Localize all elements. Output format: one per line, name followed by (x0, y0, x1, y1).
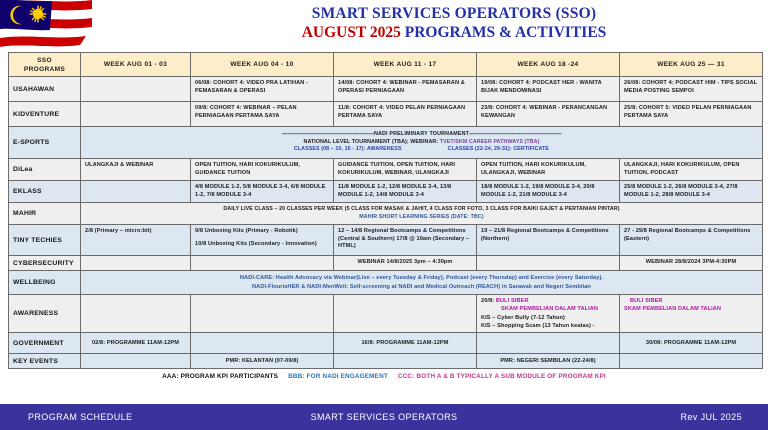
page-title: SMART SERVICES OPERATORS (SSO) (150, 4, 758, 23)
cell-tiny-techies-w5[interactable]: 27 - 29/8 Regional Bootcamps & Competiti… (620, 225, 763, 256)
malaysia-flag-icon (0, 0, 118, 52)
page-subtitle-rest: PROGRAMS & ACTIVITIES (405, 24, 607, 41)
esports-tournament-title: NADI PRELIMINARY TOURNAMENT (374, 131, 469, 137)
table-row-cybersecurity[interactable]: CYBERSECURITY WEBINAR 14/8/2025 3pm – 4:… (9, 256, 763, 271)
awareness-w5-line1: BULI SIBER (624, 298, 758, 306)
table-row-eklass[interactable]: EKLASS 4/8 MODULE 1-2, 5/8 MODULE 3-4, 6… (9, 181, 763, 203)
table-row-wellbeing[interactable]: WELLBEING NADI-CARE: Health Advocacy via… (9, 271, 763, 295)
cell-awareness-w3[interactable] (334, 295, 477, 333)
awareness-w5-line2: SKAM PEMBELIAN DALAM TALIAN (624, 306, 758, 314)
col-header-week1: WEEK AUG 01 - 03 (81, 53, 191, 77)
col-header-programs-l2: PROGRAMS (13, 65, 76, 74)
cell-tiny-techies-w2[interactable]: 9/8 Unboxing Kits (Primary - Robotik) 10… (191, 225, 334, 256)
cell-kidventure-w1[interactable] (81, 102, 191, 127)
legend-bbb: BBB: FOR NADI ENGAGEMENT (288, 373, 388, 380)
table-row-usahawan[interactable]: USAHAWAN 06/08: COHORT 4: VIDEO PRA LATI… (9, 77, 763, 102)
cell-dilea-w5[interactable]: ULANGKAJI, HARI KOKURIKULUM, OPEN TUITIO… (620, 159, 763, 181)
cell-eklass-w4[interactable]: 18/8 MODULE 1-2, 19/8 MODULE 3-4, 20/8 M… (477, 181, 620, 203)
table-row-mahir[interactable]: MAHIR DAILY LIVE CLASS – 20 CLASSES PER … (9, 203, 763, 225)
cell-key-events-w5[interactable] (620, 354, 763, 369)
legend: AAA: PROGRAM KPI PARTICIPANTSBBB: FOR NA… (0, 369, 768, 383)
cell-usahawan-w4[interactable]: 19/08: COHORT 4: PODCAST HER - WANITA BI… (477, 77, 620, 102)
wellbeing-line1: NADI-CARE: Health Advocacy via Webinar(L… (85, 274, 758, 283)
cell-cybersecurity-w3[interactable]: WEBINAR 14/8/2025 3pm – 4:30pm (334, 256, 477, 271)
awareness-w4-line3: KIS – Cyber Bully (7-12 Tahun) (481, 315, 615, 323)
cell-dilea-w4[interactable]: OPEN TUITION, HARI KOKURIKULUM, ULANGKAJ… (477, 159, 620, 181)
cell-mahir-merged[interactable]: DAILY LIVE CLASS – 20 CLASSES PER WEEK (… (81, 203, 763, 225)
row-label-esports: E-SPORTS (9, 127, 81, 159)
esports-tournament-banner: ----------------------------------------… (85, 131, 758, 139)
cell-tiny-techies-w3[interactable]: 12 – 14/8 Regional Bootcamps & Competiti… (334, 225, 477, 256)
cell-esports-merged[interactable]: ----------------------------------------… (81, 127, 763, 159)
row-label-usahawan: USAHAWAN (9, 77, 81, 102)
col-header-week3: WEEK AUG 11 - 17 (334, 53, 477, 77)
cell-eklass-w2[interactable]: 4/8 MODULE 1-2, 5/8 MODULE 3-4, 6/8 MODU… (191, 181, 334, 203)
legend-aaa: AAA: PROGRAM KPI PARTICIPANTS (162, 373, 278, 380)
tiny-techies-w2-l2: 10/8 Unboxing Kits (Secondary - Innovati… (195, 241, 329, 249)
cell-eklass-w5[interactable]: 25/8 MODULE 1-2, 26/8 MODULE 3-4, 27/8 M… (620, 181, 763, 203)
awareness-w4-line4: KIS – Shopping Scam (13 Tahun keatas) - (481, 323, 615, 331)
cell-key-events-w1[interactable] (81, 354, 191, 369)
header-row: SSO PROGRAMS WEEK AUG 01 - 03 WEEK AUG 0… (9, 53, 763, 77)
table-row-government[interactable]: GOVERNMENT 02/8: PROGRAMME 11AM-12PM 16/… (9, 333, 763, 354)
cell-government-w5[interactable]: 30/08: PROGRAMME 11AM-12PM (620, 333, 763, 354)
cell-eklass-w1[interactable] (81, 181, 191, 203)
col-header-week5: WEEK AUG 25 — 31 (620, 53, 763, 77)
table-row-dilea[interactable]: DiLea ULANGKAJI & WEBINAR OPEN TUITION, … (9, 159, 763, 181)
table-row-esports[interactable]: E-SPORTS -------------------------------… (9, 127, 763, 159)
row-label-eklass: EKLASS (9, 181, 81, 203)
cell-government-w1[interactable]: 02/8: PROGRAMME 11AM-12PM (81, 333, 191, 354)
cell-cybersecurity-w4[interactable] (477, 256, 620, 271)
legend-ccc: CCC: BOTH A & B TYPICALLY A SUB MODULE O… (398, 373, 606, 380)
title-block: SMART SERVICES OPERATORS (SSO) AUGUST 20… (150, 4, 758, 43)
table-row-kidventure[interactable]: KIDVENTURE 09/8: COHORT 4: WEBINAR – PEL… (9, 102, 763, 127)
cell-dilea-w3[interactable]: GUIDANCE TUITION, OPEN TUITION, HARI KOK… (334, 159, 477, 181)
wellbeing-line2: NADI-FlourisHER & NADI-MenWell: Self-scr… (85, 283, 758, 292)
cell-dilea-w1[interactable]: ULANGKAJI & WEBINAR (81, 159, 191, 181)
esports-classes-awareness: CLASSES (08 – 10, 15 - 17): AWARENESS (294, 146, 402, 152)
cell-usahawan-w3[interactable]: 14/08: COHORT 4: WEBINAR - PEMASARAN & O… (334, 77, 477, 102)
page-subtitle-month: AUGUST 2025 (302, 24, 401, 41)
cell-tiny-techies-w1[interactable]: 2/8 (Primary – micro:bit) (81, 225, 191, 256)
esports-dash-right: ----------------------------------------… (469, 131, 561, 137)
table-body: USAHAWAN 06/08: COHORT 4: VIDEO PRA LATI… (9, 77, 763, 369)
mahir-daily-line: DAILY LIVE CLASS – 20 CLASSES PER WEEK (… (85, 206, 758, 214)
row-label-tiny-techies: TINY TECHIES (9, 225, 81, 256)
row-label-kidventure: KIDVENTURE (9, 102, 81, 127)
cell-cybersecurity-w5[interactable]: WEBINAR 28/8/2024 3PM-4:30PM (620, 256, 763, 271)
esports-classes-line: CLASSES (08 – 10, 15 - 17): AWARENESSCLA… (85, 146, 758, 154)
row-label-government: GOVERNMENT (9, 333, 81, 354)
table-header: SSO PROGRAMS WEEK AUG 01 - 03 WEEK AUG 0… (9, 53, 763, 77)
page-header: SMART SERVICES OPERATORS (SSO) AUGUST 20… (0, 0, 768, 52)
col-header-programs-l1: SSO (13, 56, 76, 65)
cell-usahawan-w1[interactable] (81, 77, 191, 102)
mahir-series-line: MAHIR SHORT LEARNING SERIES (DATE: TBC) (85, 214, 758, 222)
cell-awareness-w2[interactable] (191, 295, 334, 333)
cell-kidventure-w2[interactable]: 09/8: COHORT 4: WEBINAR – PELAN PERNIAGA… (191, 102, 334, 127)
schedule-table: SSO PROGRAMS WEEK AUG 01 - 03 WEEK AUG 0… (8, 52, 763, 369)
row-label-dilea: DiLea (9, 159, 81, 181)
col-header-week2: WEEK AUG 04 - 10 (191, 53, 334, 77)
cell-awareness-w4[interactable]: 20/8: BULI SIBER SKAM PEMBELIAN DALAM TA… (477, 295, 620, 333)
page-subtitle: AUGUST 2025 PROGRAMS & ACTIVITIES (150, 23, 758, 43)
cell-cybersecurity-w2[interactable] (191, 256, 334, 271)
row-label-wellbeing: WELLBEING (9, 271, 81, 295)
awareness-w4-line1: 20/8: BULI SIBER (481, 298, 615, 306)
table-row-key-events[interactable]: KEY EVENTS PMR: KELANTAN (07-09/8) PMR: … (9, 354, 763, 369)
col-header-week4: WEEK AUG 18 -24 (477, 53, 620, 77)
schedule-page: SMART SERVICES OPERATORS (SSO) AUGUST 20… (0, 0, 768, 430)
schedule-table-wrapper: SSO PROGRAMS WEEK AUG 01 - 03 WEEK AUG 0… (0, 52, 768, 369)
cell-kidventure-w4[interactable]: 23/8: COHORT 4: WEBINAR - PERANCANGAN KE… (477, 102, 620, 127)
cell-key-events-w2[interactable]: PMR: KELANTAN (07-09/8) (191, 354, 334, 369)
cell-awareness-w5[interactable]: BULI SIBER SKAM PEMBELIAN DALAM TALIAN (620, 295, 763, 333)
awareness-w4-date: 20/8: (481, 298, 494, 304)
cell-key-events-w4[interactable]: PMR: NEGERI SEMBILAN (22-24/8) (477, 354, 620, 369)
tiny-techies-w2-l1: 9/8 Unboxing Kits (Primary - Robotik) (195, 228, 329, 236)
esports-national-b: TVET/SKM CAREER PATHWAYS (TBA) (440, 139, 540, 145)
cell-cybersecurity-w1[interactable] (81, 256, 191, 271)
cell-awareness-w1[interactable] (81, 295, 191, 333)
table-row-tiny-techies[interactable]: TINY TECHIES 2/8 (Primary – micro:bit) 9… (9, 225, 763, 256)
esports-national-a: NATIONAL LEVEL TOURNAMENT (TBA); WEBINAR… (304, 139, 439, 145)
table-row-awareness[interactable]: AWARENESS 20/8: BULI SIBER SKAM PEMBELIA… (9, 295, 763, 333)
cell-government-w2[interactable] (191, 333, 334, 354)
footer-revision-label: Rev JUL 2025 (681, 412, 743, 422)
awareness-w4-topic: BULI SIBER (496, 298, 529, 304)
row-label-mahir: MAHIR (9, 203, 81, 225)
row-label-cybersecurity: CYBERSECURITY (9, 256, 81, 271)
cell-wellbeing-merged[interactable]: NADI-CARE: Health Advocacy via Webinar(L… (81, 271, 763, 295)
awareness-w4-line2: SKAM PEMBELIAN DALAM TALIAN (481, 306, 615, 314)
row-label-awareness: AWARENESS (9, 295, 81, 333)
cell-dilea-w2[interactable]: OPEN TUITION, HARI KOKURIKULUM, GUIDANCE… (191, 159, 334, 181)
cell-usahawan-w2[interactable]: 06/08: COHORT 4: VIDEO PRA LATIHAN - PEM… (191, 77, 334, 102)
cell-tiny-techies-w4[interactable]: 19 – 21/8 Regional Bootcamps & Competiti… (477, 225, 620, 256)
footer-bar: PROGRAM SCHEDULE SMART SERVICES OPERATOR… (0, 404, 768, 430)
cell-government-w4[interactable] (477, 333, 620, 354)
esports-classes-certificate: CLASSES (22-24, 29-31): CERTIFICATE (448, 146, 549, 152)
footer-left-label: PROGRAM SCHEDULE (28, 412, 132, 422)
cell-key-events-w3[interactable] (334, 354, 477, 369)
cell-government-w3[interactable]: 16/8: PROGRAMME 11AM-12PM (334, 333, 477, 354)
cell-kidventure-w5[interactable]: 25/8: COHORT 5: VIDEO PELAN PERNIAGAAN P… (620, 102, 763, 127)
cell-eklass-w3[interactable]: 11/8 MODULE 1-2, 12/8 MODULE 3-4, 13/8 M… (334, 181, 477, 203)
col-header-programs: SSO PROGRAMS (9, 53, 81, 77)
esports-national-line: NATIONAL LEVEL TOURNAMENT (TBA); WEBINAR… (85, 139, 758, 147)
cell-kidventure-w3[interactable]: 11/8: COHORT 4: VIDEO PELAN PERNIAGAAN P… (334, 102, 477, 127)
cell-usahawan-w5[interactable]: 26/08: COHORT 4: PODCAST HIM - TIPS SOCI… (620, 77, 763, 102)
esports-dash-left: ----------------------------------------… (282, 131, 374, 137)
row-label-key-events: KEY EVENTS (9, 354, 81, 369)
